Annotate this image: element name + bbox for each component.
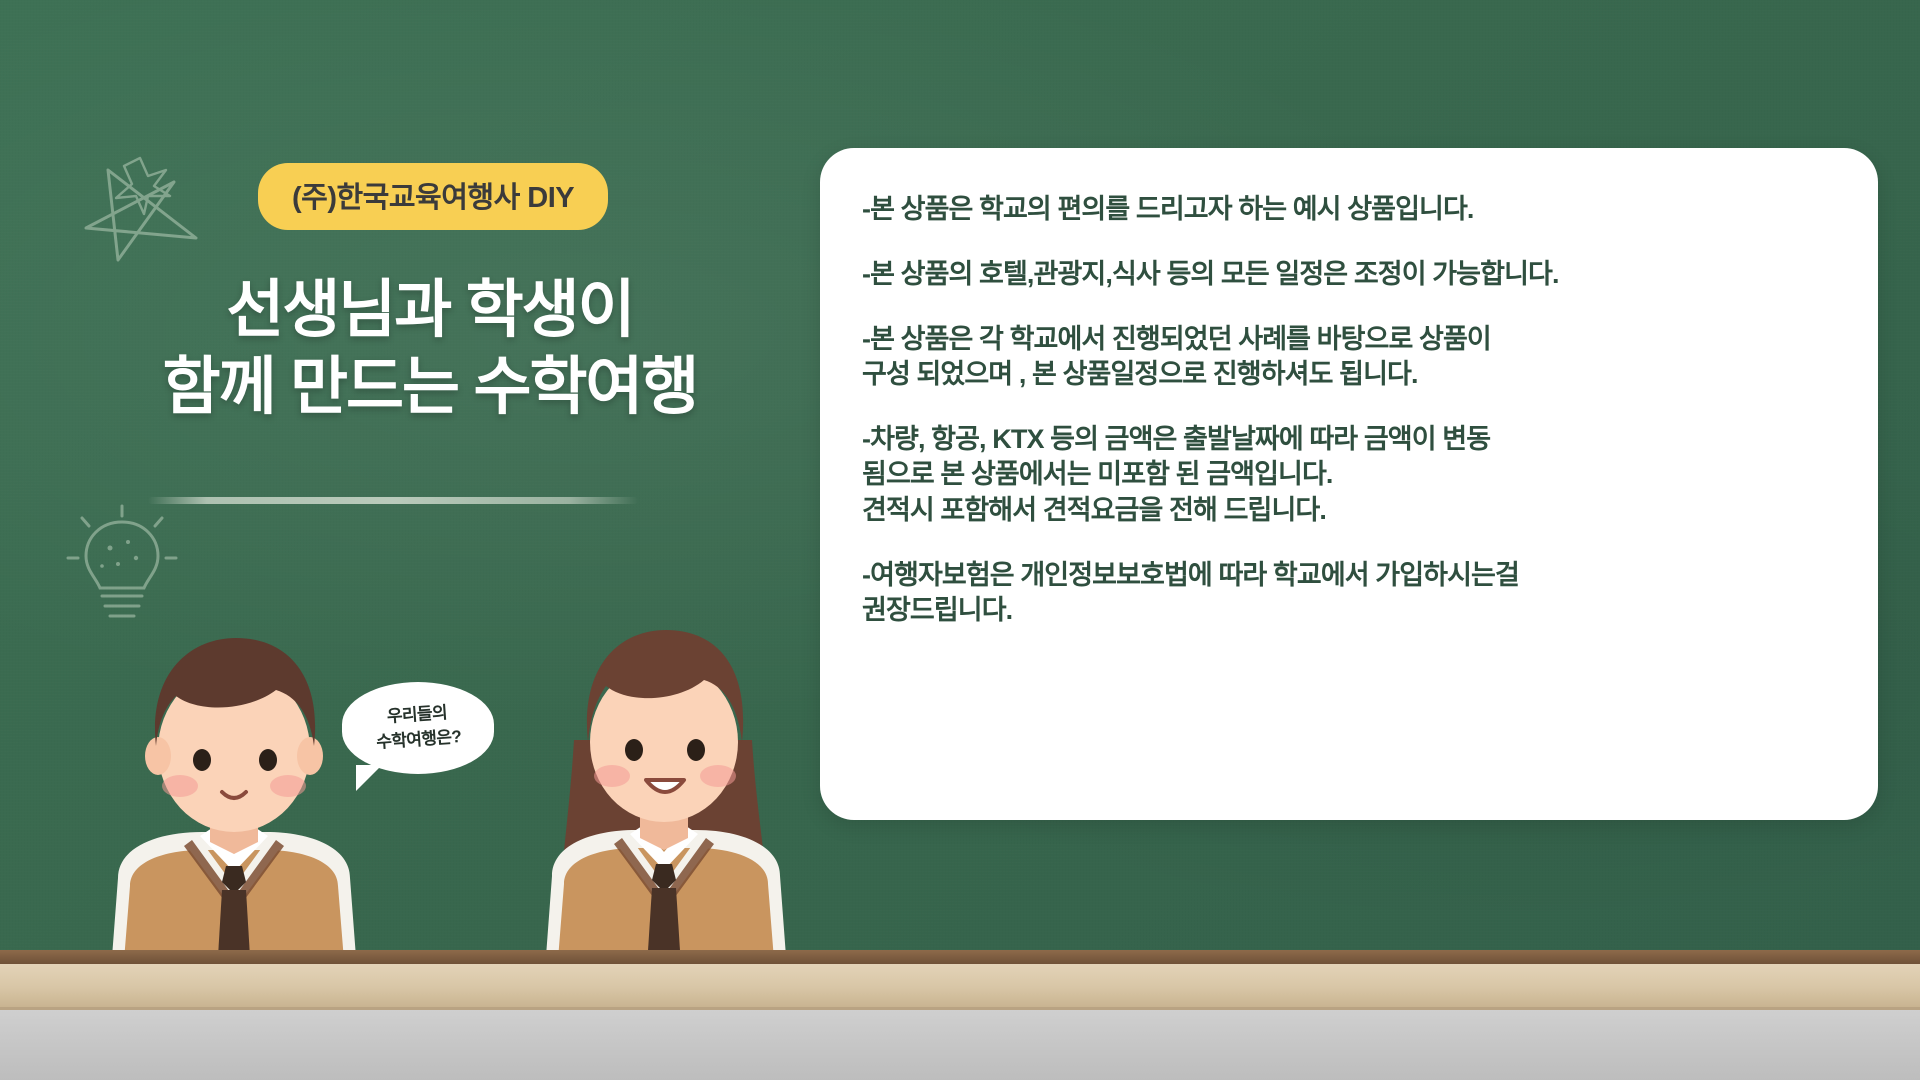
floor-area bbox=[0, 1010, 1920, 1080]
page-title: 선생님과 학생이 함께 만드는 수학여행 bbox=[80, 272, 780, 426]
info-bullet: -여행자보험은 개인정보보호법에 따라 학교에서 가입하시는걸 권장드립니다. bbox=[862, 558, 1838, 628]
info-card: -본 상품은 학교의 편의를 드리고자 하는 예시 상품입니다. -본 상품의 … bbox=[820, 148, 1878, 820]
speech-bubble: 우리들의 수학여행은? bbox=[342, 682, 494, 774]
chalkboard-ledge bbox=[0, 964, 1920, 1010]
headline-line-2: 함께 만드는 수학여행 bbox=[80, 349, 780, 426]
speech-bubble-line-2: 수학여행은? bbox=[376, 725, 462, 756]
info-bullet: -차량, 항공, KTX 등의 금액은 출발날짜에 따라 금액이 변동 됨으로 … bbox=[862, 422, 1838, 527]
chalkboard-frame-edge bbox=[0, 950, 1920, 964]
star-doodle-icon bbox=[78, 150, 208, 275]
info-bullet: -본 상품의 호텔,관광지,식사 등의 모든 일정은 조정이 가능합니다. bbox=[862, 257, 1838, 292]
headline-line-1: 선생님과 학생이 bbox=[226, 275, 633, 345]
chalk-divider bbox=[148, 497, 638, 504]
brand-badge: (주)한국교육여행사 DIY bbox=[258, 163, 608, 230]
speech-bubble-text: 우리들의 수학여행은? bbox=[339, 677, 497, 779]
presentation-slide: (주)한국교육여행사 DIY 선생님과 학생이 함께 만드는 수학여행 bbox=[0, 0, 1920, 1080]
info-bullet: -본 상품은 학교의 편의를 드리고자 하는 예시 상품입니다. bbox=[862, 192, 1838, 227]
info-bullet: -본 상품은 각 학교에서 진행되었던 사례를 바탕으로 상품이 구성 되었으며… bbox=[862, 322, 1838, 392]
